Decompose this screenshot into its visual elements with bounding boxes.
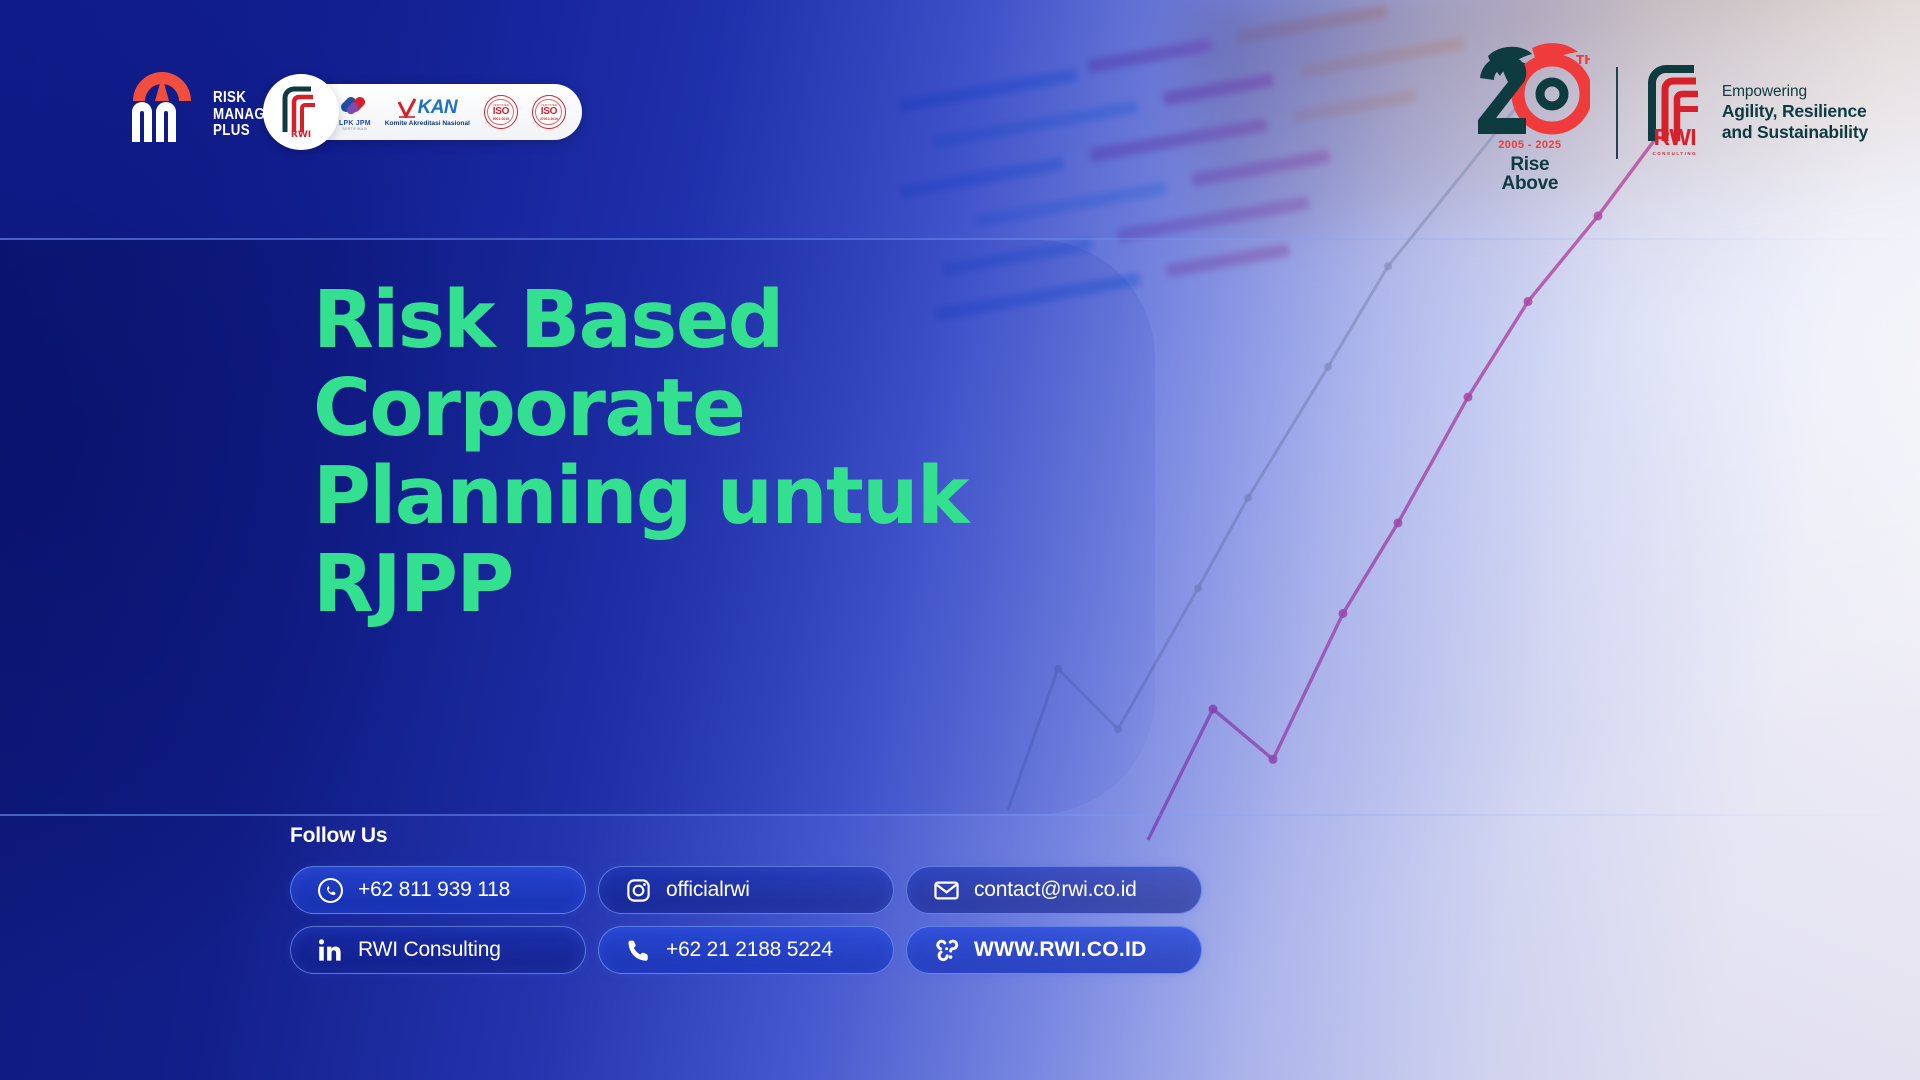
anniversary-ordinal: TH: [1576, 53, 1590, 67]
contact-website[interactable]: WWW.RWI.CO.ID: [906, 926, 1202, 974]
iso-seal-1-word: ISO: [493, 107, 509, 117]
phone-icon: [625, 937, 652, 964]
tagline-line2: Agility, Resilience: [1722, 101, 1868, 122]
anniversary-20th-logo: TH 2005 - 2025 Rise Above: [1470, 38, 1590, 188]
follow-us-label: Follow Us: [290, 824, 387, 848]
contact-whatsapp-label: +62 811 939 118: [358, 878, 510, 902]
contact-instagram-label: officialrwi: [666, 878, 750, 902]
divider-line-bottom: [0, 814, 1920, 816]
contact-email[interactable]: contact@rwi.co.id: [906, 866, 1202, 914]
kan-sub: Komite Akreditasi Nasional: [385, 120, 470, 127]
email-icon: [933, 877, 960, 904]
headline-line-2: Corporate: [313, 364, 1113, 452]
rwi-sub-wordmark: CONSULTING: [1644, 151, 1706, 156]
tagline-line1: Empowering: [1722, 83, 1868, 102]
contact-website-label: WWW.RWI.CO.ID: [974, 938, 1147, 962]
page-title: Risk Based Corporate Planning untuk RJPP: [313, 276, 1113, 628]
iso-seal-1-standard: 9001:2015: [493, 117, 509, 121]
iso-seal-2-standard: 37001:2016: [540, 117, 558, 121]
kan-check-icon: [398, 98, 416, 118]
cert-kan: KAN Komite Akreditasi Nasional: [385, 97, 470, 127]
lpk-jpm-icon: [340, 93, 370, 119]
linkedin-icon: [317, 937, 344, 964]
iso-seal-1: CERTIFIED ISO 9001:2015: [484, 95, 518, 129]
rwi-tagline: Empowering Agility, Resilience and Susta…: [1722, 83, 1868, 144]
iso-seal-2: CERTIFIED ISO 37001:2016: [532, 95, 566, 129]
rwi-logo-icon: RWI: [279, 86, 323, 138]
contact-phone-label: +62 21 2188 5224: [666, 938, 833, 962]
contact-whatsapp[interactable]: +62 811 939 118: [290, 866, 586, 914]
svg-text:RWI: RWI: [291, 130, 311, 138]
anniversary-slogan-line2: Above: [1470, 175, 1590, 194]
certifications-bar: RWI LPK JPM SERTIFIKASI KAN Komite Akred…: [277, 84, 582, 140]
anniversary-mark-icon: TH: [1470, 38, 1590, 142]
lockup-divider: [1616, 67, 1618, 159]
rwi-badge-circle: RWI: [263, 74, 339, 150]
whatsapp-icon: [317, 877, 344, 904]
cert-lpk-jpm: LPK JPM SERTIFIKASI: [339, 93, 371, 131]
headline-line-4: RJPP: [313, 540, 1113, 628]
contact-pill-row-2: RWI Consulting +62 21 2188 5224 WWW.RWI.…: [290, 926, 1202, 974]
rwi-wordmark: RWI: [1644, 126, 1706, 149]
rmp-letter-m-icon: [130, 100, 194, 142]
headline-line-3: Planning untuk: [313, 452, 1113, 540]
contact-email-label: contact@rwi.co.id: [974, 878, 1137, 902]
anniversary-slogan: Rise Above: [1470, 156, 1590, 193]
contact-linkedin-label: RWI Consulting: [358, 938, 501, 962]
lpk-label: LPK JPM: [339, 120, 371, 127]
anniversary-slogan-line1: Rise: [1470, 156, 1590, 175]
website-icon: [933, 937, 960, 964]
contact-instagram[interactable]: officialrwi: [598, 866, 894, 914]
rwi-consulting-logo-icon: RWI CONSULTING: [1644, 65, 1706, 161]
anniversary-years: 2005 - 2025: [1470, 139, 1590, 151]
contact-linkedin[interactable]: RWI Consulting: [290, 926, 586, 974]
instagram-icon: [625, 877, 652, 904]
rmp-monogram-icon: [126, 68, 198, 142]
rwi-consulting-lockup: RWI CONSULTING Empowering Agility, Resil…: [1644, 65, 1868, 161]
rmp-arc-icon: [131, 68, 193, 102]
kan-label: KAN: [418, 97, 457, 119]
tagline-line3: and Sustainability: [1722, 122, 1868, 143]
contact-phone[interactable]: +62 21 2188 5224: [598, 926, 894, 974]
anniversary-and-rwi-lockup: TH 2005 - 2025 Rise Above RWI CONSULTING…: [1470, 38, 1868, 188]
lpk-sub: SERTIFIKASI: [342, 127, 367, 131]
headline-line-1: Risk Based: [313, 276, 1113, 364]
contact-pill-group: +62 811 939 118 officialrwi contact@rwi.…: [290, 866, 1202, 974]
iso-seal-2-word: ISO: [541, 107, 557, 117]
divider-line-top: [0, 238, 1920, 240]
contact-pill-row-1: +62 811 939 118 officialrwi contact@rwi.…: [290, 866, 1202, 914]
